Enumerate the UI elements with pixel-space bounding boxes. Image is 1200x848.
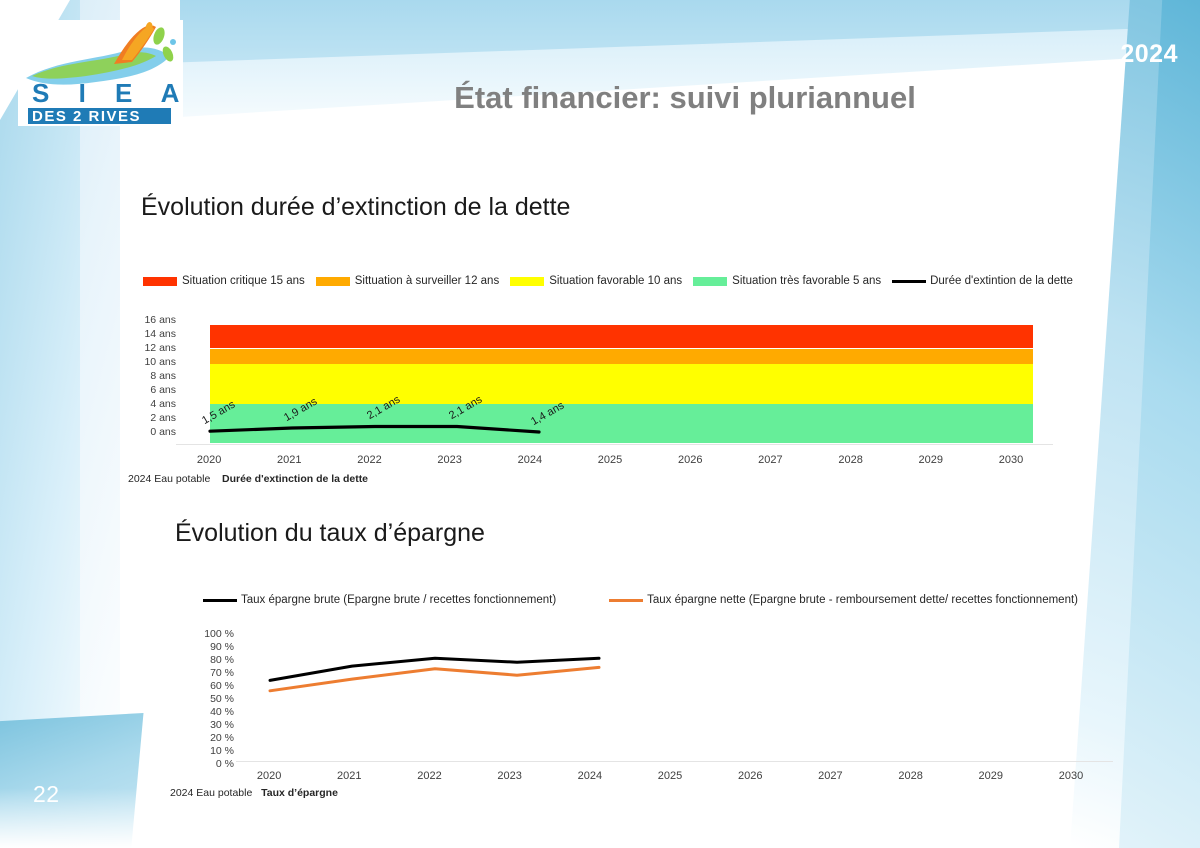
x-tick-label: 2021 xyxy=(309,770,389,782)
legend-item-situation-favorable: Situation favorable 10 ans xyxy=(510,275,682,287)
y-tick-label: 4 ans xyxy=(128,399,176,413)
x-tick-label: 2020 xyxy=(229,770,309,782)
x-tick-label: 2023 xyxy=(470,770,550,782)
x-tick-label: 2022 xyxy=(389,770,469,782)
legend-item-situation-a-surveiller: Sittuation à surveiller 12 ans xyxy=(316,275,499,287)
chart1-x-axis-line xyxy=(176,444,1053,445)
svg-text:DES 2 RIVES: DES 2 RIVES xyxy=(32,108,141,125)
chart2-plot-area xyxy=(240,631,1110,761)
page-title: État financier: suivi pluriannuel xyxy=(300,80,1070,116)
chart2-lines xyxy=(240,631,1110,761)
chart1-footer-title: Durée d'extinction de la dette xyxy=(222,473,368,485)
chart1-debt-duration-line xyxy=(180,317,1050,443)
legend-item-duree-extinction: Durée d'extintion de la dette xyxy=(892,275,1073,287)
page-number: 22 xyxy=(33,781,60,808)
legend-label: Situation très favorable 5 ans xyxy=(732,275,881,287)
x-tick-label: 2030 xyxy=(1031,770,1111,782)
x-tick-label: 2025 xyxy=(570,454,650,466)
y-tick-label: 6 ans xyxy=(128,385,176,399)
legend-item-situation-critique: Situation critique 15 ans xyxy=(143,275,305,287)
legend-swatch-icon xyxy=(143,277,177,286)
y-tick-label: 0 % xyxy=(190,759,234,772)
x-tick-label: 2029 xyxy=(891,454,971,466)
x-tick-label: 2025 xyxy=(630,770,710,782)
legend-line-icon xyxy=(609,599,643,602)
chart1-y-axis-labels: 16 ans 14 ans 12 ans 10 ans 8 ans 6 ans … xyxy=(128,315,176,441)
legend-item-situation-tres-favorable: Situation très favorable 5 ans xyxy=(693,275,881,287)
x-tick-label: 2026 xyxy=(710,770,790,782)
x-tick-label: 2028 xyxy=(871,770,951,782)
year-badge: 2024 xyxy=(1120,40,1178,69)
legend-label: Taux épargne brute (Epargne brute / rece… xyxy=(241,594,556,606)
x-tick-label: 2020 xyxy=(169,454,249,466)
x-tick-label: 2029 xyxy=(951,770,1031,782)
y-tick-label: 14 ans xyxy=(128,329,176,343)
x-tick-label: 2028 xyxy=(811,454,891,466)
legend-label: Taux épargne nette (Epargne brute - remb… xyxy=(647,594,1078,606)
y-tick-label: 0 ans xyxy=(128,427,176,441)
chart1-footer-prefix: 2024 Eau potable xyxy=(128,473,210,485)
x-tick-label: 2030 xyxy=(971,454,1051,466)
y-tick-label: 16 ans xyxy=(128,315,176,329)
legend-swatch-icon xyxy=(510,277,544,286)
y-tick-label: 2 ans xyxy=(128,413,176,427)
x-tick-label: 2023 xyxy=(410,454,490,466)
y-tick-label: 8 ans xyxy=(128,371,176,385)
chart2-legend: Taux épargne brute (Epargne brute / rece… xyxy=(203,594,1078,606)
chart2-x-axis-line xyxy=(236,761,1113,762)
chart2-y-axis-labels: 100 % 90 % 80 % 70 % 60 % 50 % 40 % 30 %… xyxy=(190,629,234,772)
legend-item-taux-epargne-brute: Taux épargne brute (Epargne brute / rece… xyxy=(203,594,556,606)
chart1-heading: Évolution durée d’extinction de la dette xyxy=(141,193,570,222)
legend-label: Situation favorable 10 ans xyxy=(549,275,682,287)
chart2-footer-prefix: 2024 Eau potable xyxy=(170,787,252,799)
chart2-heading: Évolution du taux d’épargne xyxy=(175,519,485,548)
legend-swatch-icon xyxy=(316,277,350,286)
legend-label: Durée d'extintion de la dette xyxy=(930,275,1073,287)
chart2-footer-title: Taux d’épargne xyxy=(261,787,338,799)
legend-line-icon xyxy=(892,280,926,283)
x-tick-label: 2026 xyxy=(650,454,730,466)
x-tick-label: 2024 xyxy=(490,454,570,466)
chart2-footer-note: 2024 Eau potable Taux d’épargne xyxy=(170,787,338,799)
chart1-x-axis-labels: 2020 2021 2022 2023 2024 2025 2026 2027 … xyxy=(169,454,1051,466)
siea-logo: S I E A DES 2 RIVES xyxy=(18,20,183,126)
legend-label: Sittuation à surveiller 12 ans xyxy=(355,275,499,287)
chart2-x-axis-labels: 2020 2021 2022 2023 2024 2025 2026 2027 … xyxy=(229,770,1111,782)
x-tick-label: 2021 xyxy=(249,454,329,466)
x-tick-label: 2022 xyxy=(329,454,409,466)
x-tick-label: 2027 xyxy=(730,454,810,466)
chart1-plot-area: 1,5 ans 1,9 ans 2,1 ans 2,1 ans 1,4 ans xyxy=(180,317,1050,443)
logo-graphic: S I E A DES 2 RIVES xyxy=(18,20,183,126)
slide-canvas: 2024 22 S I E A DES 2 RIVES État financi… xyxy=(0,0,1200,848)
x-tick-label: 2024 xyxy=(550,770,630,782)
legend-label: Situation critique 15 ans xyxy=(182,275,305,287)
legend-item-taux-epargne-nette: Taux épargne nette (Epargne brute - remb… xyxy=(609,594,1078,606)
legend-swatch-icon xyxy=(693,277,727,286)
x-tick-label: 2027 xyxy=(790,770,870,782)
legend-line-icon xyxy=(203,599,237,602)
svg-text:S I E A: S I E A xyxy=(32,78,183,108)
chart1-legend: Situation critique 15 ans Sittuation à s… xyxy=(143,275,1073,287)
y-tick-label: 10 ans xyxy=(128,357,176,371)
y-tick-label: 12 ans xyxy=(128,343,176,357)
chart1-footer-note: 2024 Eau potable Durée d'extinction de l… xyxy=(128,473,368,485)
